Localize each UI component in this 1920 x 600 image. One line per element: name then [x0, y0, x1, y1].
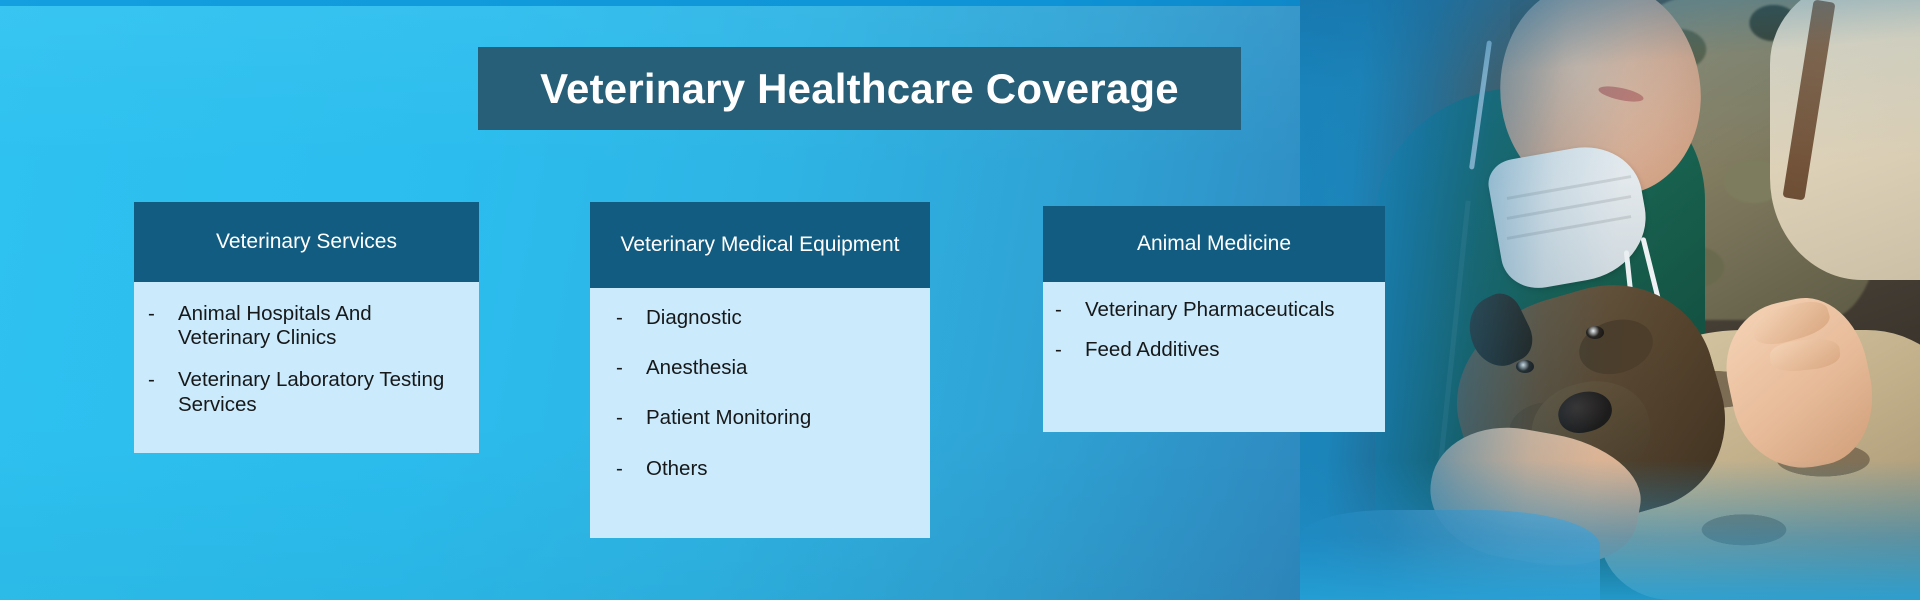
list-item-label: Patient Monitoring — [646, 406, 912, 430]
list-item-label: Animal Hospitals And Veterinary Clinics — [178, 302, 461, 350]
card-header-label: Veterinary Services — [216, 229, 397, 256]
category-card-veterinary-medical-equipment: Veterinary Medical Equipment - Diagnosti… — [590, 202, 930, 538]
veterinary-photo — [1300, 0, 1920, 600]
card-body-veterinary-medical-equipment: - Diagnostic - Anesthesia - Patient Moni… — [590, 288, 930, 538]
list-item: - Veterinary Laboratory Testing Services — [148, 368, 461, 416]
photo-bottom-fade — [1300, 460, 1920, 600]
bullet-dash-icon: - — [616, 306, 646, 330]
page-title: Veterinary Healthcare Coverage — [540, 65, 1179, 113]
list-item: - Feed Additives — [1055, 338, 1367, 362]
card-header-veterinary-services: Veterinary Services — [134, 202, 479, 282]
list-item: - Others — [616, 457, 912, 481]
bullet-dash-icon: - — [616, 356, 646, 380]
bullet-dash-icon: - — [616, 457, 646, 481]
bullet-dash-icon: - — [148, 368, 178, 392]
card-header-label: Animal Medicine — [1137, 231, 1291, 258]
bullet-dash-icon: - — [148, 302, 178, 326]
list-item: - Patient Monitoring — [616, 406, 912, 430]
banner-title-box: Veterinary Healthcare Coverage — [478, 47, 1241, 130]
veterinary-healthcare-banner: Veterinary Healthcare Coverage Veterinar… — [0, 0, 1920, 600]
list-item: - Anesthesia — [616, 356, 912, 380]
bullet-dash-icon: - — [616, 406, 646, 430]
list-item-label: Others — [646, 457, 912, 481]
list-item: - Animal Hospitals And Veterinary Clinic… — [148, 302, 461, 350]
card-body-animal-medicine: - Veterinary Pharmaceuticals - Feed Addi… — [1043, 282, 1385, 432]
card-header-animal-medicine: Animal Medicine — [1043, 206, 1385, 282]
category-card-animal-medicine: Animal Medicine - Veterinary Pharmaceuti… — [1043, 206, 1385, 432]
bullet-dash-icon: - — [1055, 338, 1085, 362]
list-item: - Diagnostic — [616, 306, 912, 330]
card-header-label: Veterinary Medical Equipment — [621, 232, 900, 259]
category-card-veterinary-services: Veterinary Services - Animal Hospitals A… — [134, 202, 479, 453]
list-item: - Veterinary Pharmaceuticals — [1055, 298, 1367, 322]
list-item-label: Anesthesia — [646, 356, 912, 380]
card-header-veterinary-medical-equipment: Veterinary Medical Equipment — [590, 202, 930, 288]
list-item-label: Feed Additives — [1085, 338, 1367, 362]
list-item-label: Diagnostic — [646, 306, 912, 330]
bullet-dash-icon: - — [1055, 298, 1085, 322]
list-item-label: Veterinary Pharmaceuticals — [1085, 298, 1367, 322]
card-body-veterinary-services: - Animal Hospitals And Veterinary Clinic… — [134, 282, 479, 453]
list-item-label: Veterinary Laboratory Testing Services — [178, 368, 461, 416]
